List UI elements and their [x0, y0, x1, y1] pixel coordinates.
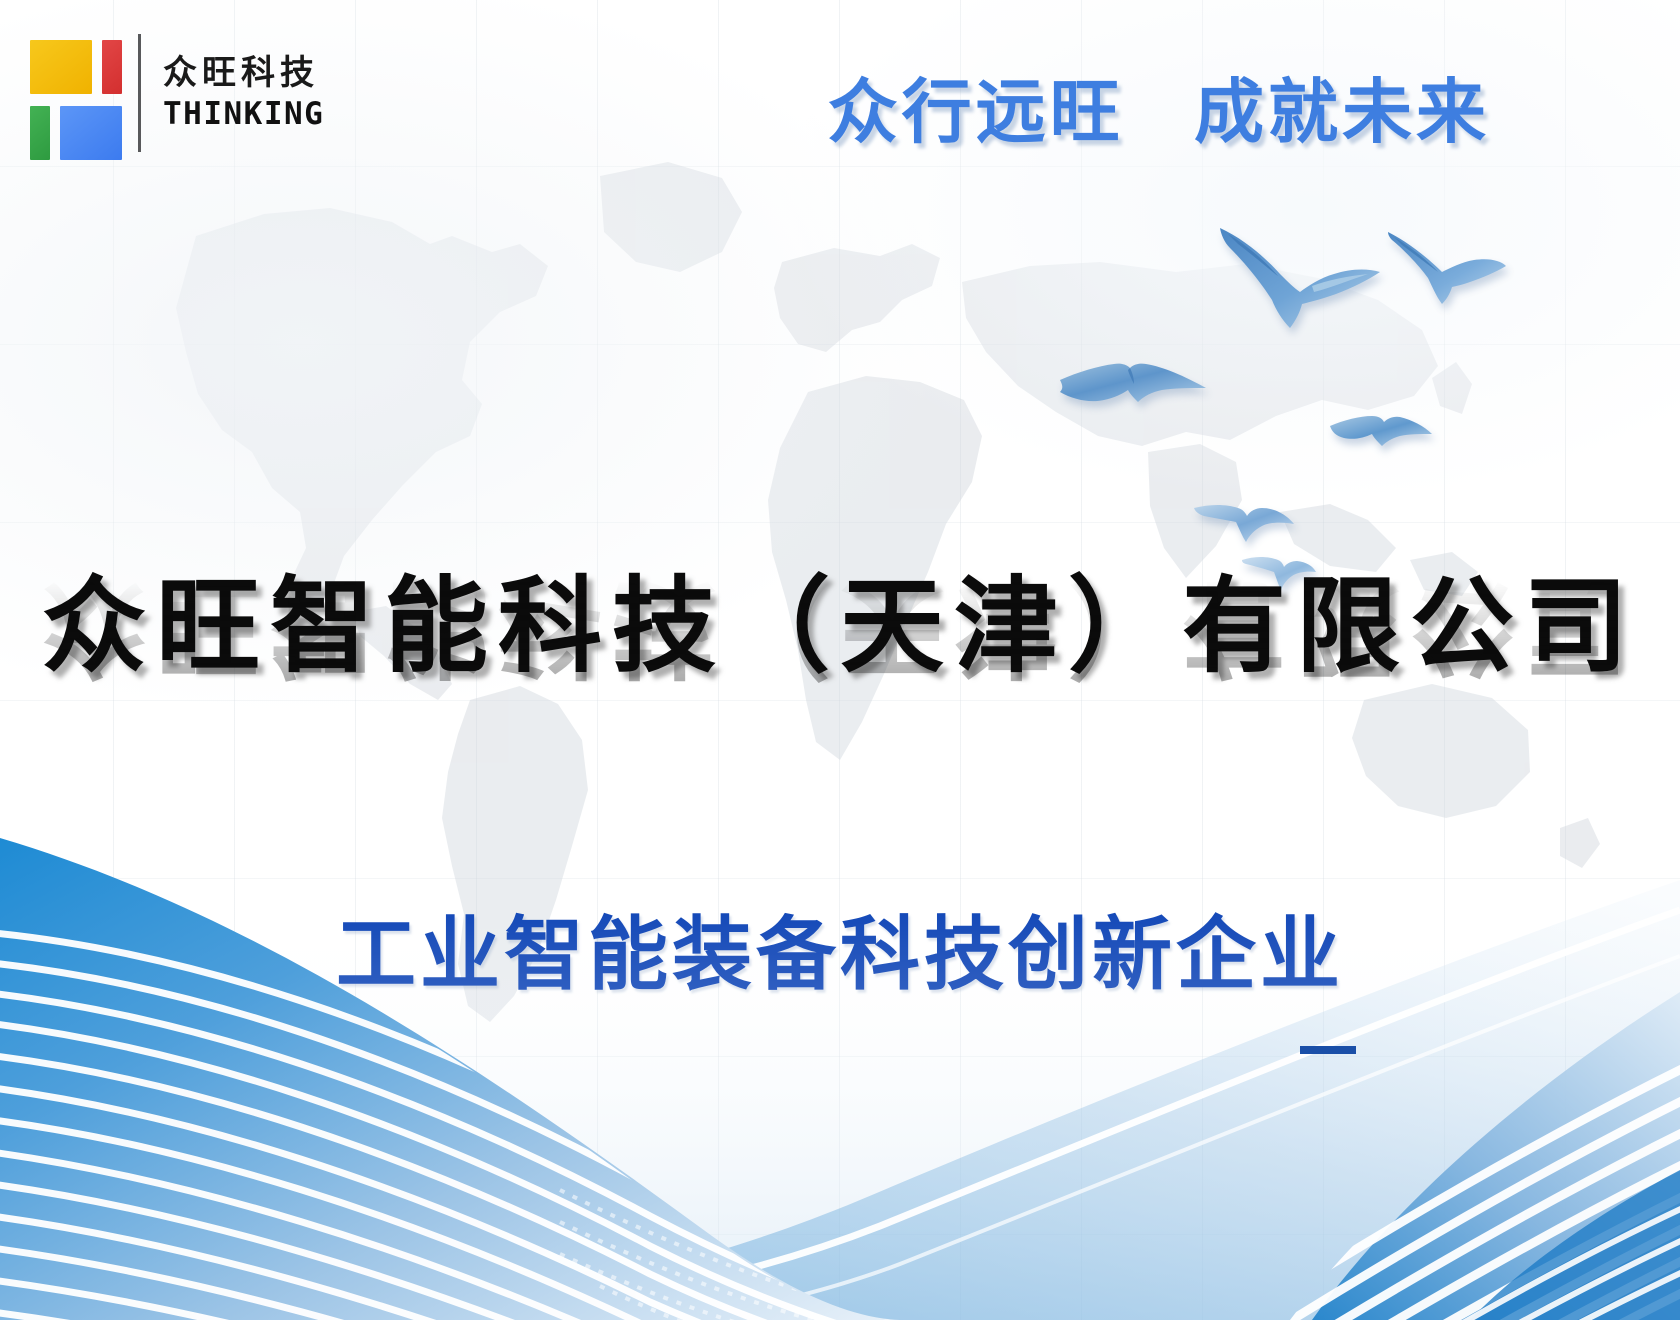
logo-chinese-name: 众旺科技: [163, 52, 324, 95]
yellow-square-icon: [30, 40, 92, 94]
page-title: 众旺智能科技（天津）有限公司: [0, 568, 1680, 684]
bird-large-right-icon: [1382, 228, 1508, 306]
bird-medium-left-icon: [1058, 358, 1208, 432]
header-slogan: 众行远旺 成就未来: [828, 56, 1490, 157]
title-block: 众旺智能科技（天津）有限公司 众旺智能科技（天津）有限公司: [0, 568, 1680, 803]
logo-mark: [28, 32, 124, 154]
company-logo[interactable]: 众旺科技 THINKING: [28, 28, 324, 158]
logo-divider: [138, 34, 141, 152]
green-square-icon: [30, 106, 50, 160]
bird-small-lower-icon: [1192, 498, 1296, 558]
page-subtitle: 工业智能装备科技创新企业: [0, 890, 1680, 1006]
bird-small-right-icon: [1328, 412, 1434, 466]
bird-large-left-icon: [1208, 222, 1386, 332]
logo-english-name: THINKING: [163, 95, 324, 134]
presentation-slide: 众旺科技 THINKING 众行远旺 成就未来: [0, 0, 1680, 1320]
logo-wordmark: 众旺科技 THINKING: [163, 37, 324, 149]
corner-accent-tab: [1300, 1046, 1356, 1054]
blue-square-icon: [60, 106, 122, 160]
bottom-wave-decoration: [0, 760, 1680, 1320]
red-square-icon: [102, 40, 122, 94]
